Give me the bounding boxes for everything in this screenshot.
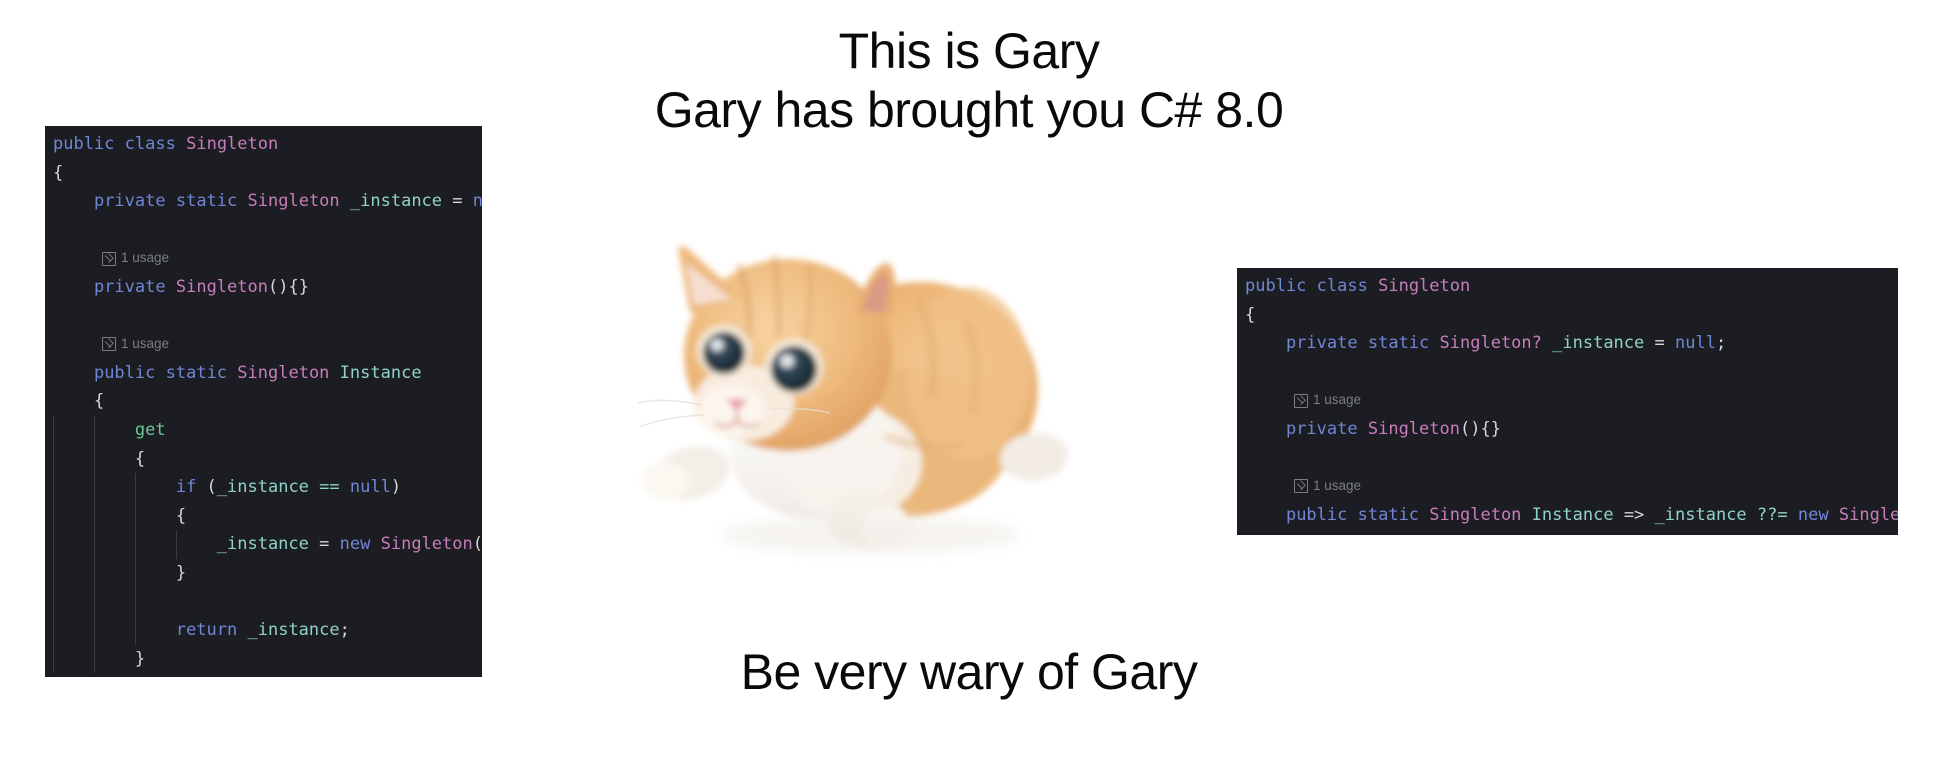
code-line: { xyxy=(1237,301,1898,330)
code-token: _instance xyxy=(1552,333,1644,353)
code-token: new xyxy=(1798,505,1829,525)
code-token: { xyxy=(53,163,63,183)
indent-guide xyxy=(135,473,136,502)
code-token: Singleton xyxy=(1368,419,1460,439)
kitten-photo xyxy=(620,205,1075,565)
code-line: public class Singleton xyxy=(45,130,482,159)
code-token xyxy=(155,363,165,383)
code-token: { xyxy=(135,449,145,469)
code-token: _instance xyxy=(1655,505,1747,525)
code-token xyxy=(1306,276,1316,296)
code-token: public xyxy=(53,134,114,154)
code-token: Singleton xyxy=(1839,505,1898,525)
code-token: = xyxy=(1655,333,1665,353)
codelens-usage-hint[interactable]: 1 usage xyxy=(45,330,482,359)
code-indent xyxy=(1245,505,1286,525)
code-token: ; xyxy=(1716,333,1726,353)
code-token: } xyxy=(176,563,186,583)
code-token: (){} xyxy=(1460,419,1501,439)
code-token xyxy=(166,277,176,297)
code-token: _instance xyxy=(217,534,309,554)
code-token xyxy=(1644,505,1654,525)
code-line: private static Singleton _instance = nul… xyxy=(45,187,482,216)
code-token xyxy=(370,534,380,554)
codelens-label: 1 usage xyxy=(121,244,169,273)
code-token: static xyxy=(1368,333,1429,353)
code-token xyxy=(227,363,237,383)
code-token: private xyxy=(1286,333,1358,353)
code-line: } xyxy=(1237,529,1898,535)
code-indent xyxy=(53,477,176,497)
code-line: _instance = new Singleton(); xyxy=(45,530,482,559)
code-line: private static Singleton? _instance = nu… xyxy=(1237,329,1898,358)
code-token: Singleton xyxy=(381,534,473,554)
code-token xyxy=(340,191,350,211)
page-title: This is GaryGary has brought you C# 8.0 xyxy=(0,22,1938,140)
code-line: private Singleton(){} xyxy=(1237,415,1898,444)
code-line: { xyxy=(45,387,482,416)
code-line: public static Singleton Instance xyxy=(45,359,482,388)
code-token: private xyxy=(94,191,166,211)
code-indent xyxy=(53,563,176,583)
code-token: (); xyxy=(473,534,482,554)
code-token: => xyxy=(1624,505,1644,525)
page-caption: Be very wary of Gary xyxy=(0,645,1938,700)
code-token: ) xyxy=(391,477,401,497)
code-token xyxy=(1358,333,1368,353)
indent-guide xyxy=(94,416,95,445)
indent-guide xyxy=(94,502,95,531)
codelens-usage-hint[interactable]: 1 usage xyxy=(45,244,482,273)
indent-guide xyxy=(53,559,54,588)
code-indent xyxy=(53,506,176,526)
code-line-blank xyxy=(1237,444,1898,473)
indent-guide xyxy=(53,502,54,531)
code-line: get xyxy=(45,416,482,445)
code-token xyxy=(1358,419,1368,439)
indent-guide xyxy=(176,530,177,559)
code-token: { xyxy=(94,391,104,411)
codelens-usage-hint[interactable]: 1 usage xyxy=(1237,386,1898,415)
code-token: Singleton xyxy=(186,134,278,154)
indent-guide xyxy=(53,416,54,445)
code-token xyxy=(309,477,319,497)
code-line: if (_instance == null) xyxy=(45,473,482,502)
code-line-blank xyxy=(45,302,482,331)
code-token xyxy=(1521,505,1531,525)
code-token xyxy=(114,134,124,154)
code-token xyxy=(1542,333,1552,353)
codelens-label: 1 usage xyxy=(1313,386,1361,415)
code-token: if xyxy=(176,477,196,497)
code-line-blank xyxy=(45,588,482,617)
code-token: Instance xyxy=(1532,505,1614,525)
code-token xyxy=(166,191,176,211)
code-token: Singleton xyxy=(237,363,329,383)
code-indent xyxy=(1245,333,1286,353)
code-token: private xyxy=(1286,419,1358,439)
indent-guide xyxy=(135,559,136,588)
indent-guide xyxy=(53,616,54,645)
code-token xyxy=(329,363,339,383)
indent-guide xyxy=(53,588,54,617)
headline-line-1: This is Gary xyxy=(839,23,1100,79)
code-token xyxy=(176,134,186,154)
code-token: Singleton xyxy=(1378,276,1470,296)
code-line: return _instance; xyxy=(45,616,482,645)
code-token xyxy=(1747,505,1757,525)
usage-arrow-icon xyxy=(102,337,116,351)
code-token: Singleton xyxy=(176,277,268,297)
code-token: static xyxy=(1358,505,1419,525)
code-token xyxy=(1614,505,1624,525)
code-indent xyxy=(53,363,94,383)
code-token xyxy=(1347,505,1357,525)
code-indent xyxy=(53,391,94,411)
code-indent xyxy=(53,277,94,297)
codelens-label: 1 usage xyxy=(1313,472,1361,501)
code-line-blank xyxy=(45,216,482,245)
code-line: { xyxy=(45,159,482,188)
caption-text: Be very wary of Gary xyxy=(741,644,1198,700)
code-line: public class Singleton xyxy=(1237,272,1898,301)
headline-line-2: Gary has brought you C# 8.0 xyxy=(655,82,1284,138)
code-token xyxy=(1419,505,1429,525)
code-token: class xyxy=(1317,276,1368,296)
code-token: { xyxy=(176,506,186,526)
code-token: null xyxy=(1675,333,1716,353)
code-indent xyxy=(53,620,176,640)
indent-guide xyxy=(94,473,95,502)
code-token: public xyxy=(1245,276,1306,296)
code-token: == xyxy=(319,477,339,497)
code-token xyxy=(1665,333,1675,353)
code-token: Singleton xyxy=(248,191,340,211)
code-line: } xyxy=(45,559,482,588)
indent-guide xyxy=(135,530,136,559)
code-line: public static Singleton Instance => _ins… xyxy=(1237,501,1898,530)
code-token: get xyxy=(135,420,166,440)
code-token: { xyxy=(1245,305,1255,325)
code-token: _instance xyxy=(350,191,442,211)
code-token xyxy=(1368,276,1378,296)
code-token xyxy=(329,534,339,554)
code-token: _instance xyxy=(217,477,309,497)
indent-guide xyxy=(94,559,95,588)
code-block-csharp8-singleton[interactable]: public class Singleton{ private static S… xyxy=(1237,268,1898,535)
indent-guide xyxy=(94,530,95,559)
code-token: null xyxy=(473,191,482,211)
indent-guide xyxy=(53,473,54,502)
code-token: private xyxy=(94,277,166,297)
code-token xyxy=(1788,505,1798,525)
code-line: { xyxy=(45,445,482,474)
code-token: Singleton? xyxy=(1440,333,1542,353)
codelens-usage-hint[interactable]: 1 usage xyxy=(1237,472,1898,501)
code-token: Singleton xyxy=(1429,505,1521,525)
code-token xyxy=(309,534,319,554)
indent-guide xyxy=(94,616,95,645)
code-token: Instance xyxy=(340,363,422,383)
code-token xyxy=(237,620,247,640)
code-token xyxy=(237,191,247,211)
code-token: class xyxy=(125,134,176,154)
code-token: _instance xyxy=(248,620,340,640)
code-token: static xyxy=(176,191,237,211)
code-indent xyxy=(53,191,94,211)
code-token: static xyxy=(166,363,227,383)
codelens-label: 1 usage xyxy=(121,330,169,359)
indent-guide xyxy=(135,616,136,645)
code-token xyxy=(1429,333,1439,353)
code-line: { xyxy=(45,502,482,531)
code-token xyxy=(442,191,452,211)
code-line: private Singleton(){} xyxy=(45,273,482,302)
code-token: = xyxy=(319,534,329,554)
code-token: ; xyxy=(340,620,350,640)
code-token: ( xyxy=(196,477,216,497)
code-line-blank xyxy=(1237,358,1898,387)
indent-guide xyxy=(53,445,54,474)
indent-guide xyxy=(53,530,54,559)
code-token: null xyxy=(350,477,391,497)
code-token: = xyxy=(452,191,462,211)
usage-arrow-icon xyxy=(1294,479,1308,493)
code-token: public xyxy=(94,363,155,383)
code-token xyxy=(340,477,350,497)
code-block-classic-singleton[interactable]: public class Singleton{ private static S… xyxy=(45,126,482,677)
code-token xyxy=(1829,505,1839,525)
code-token: new xyxy=(340,534,371,554)
code-token: ??= xyxy=(1757,505,1788,525)
code-token xyxy=(1644,333,1654,353)
code-indent xyxy=(1245,419,1286,439)
code-token xyxy=(463,191,473,211)
code-token: public xyxy=(1286,505,1347,525)
indent-guide xyxy=(94,588,95,617)
usage-arrow-icon xyxy=(1294,394,1308,408)
code-token: } xyxy=(1245,533,1255,535)
usage-arrow-icon xyxy=(102,252,116,266)
indent-guide xyxy=(94,445,95,474)
code-token: (){} xyxy=(268,277,309,297)
indent-guide xyxy=(135,502,136,531)
indent-guide xyxy=(135,588,136,617)
code-token: return xyxy=(176,620,237,640)
